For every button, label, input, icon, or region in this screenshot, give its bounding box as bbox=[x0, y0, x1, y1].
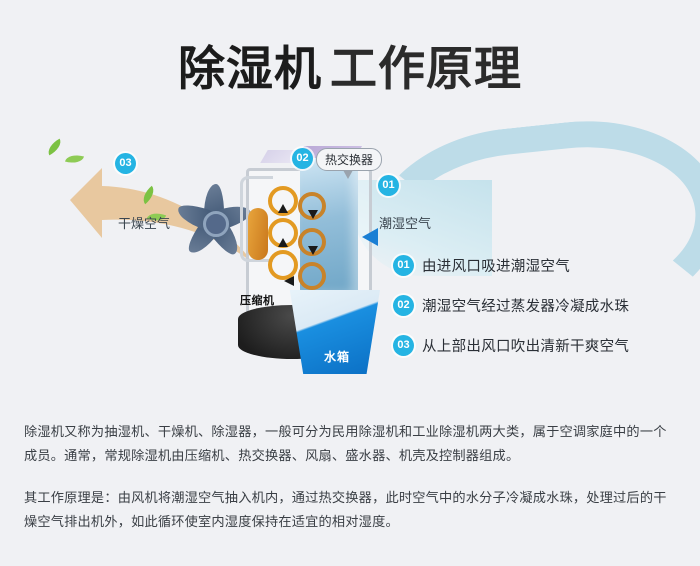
legend-text-01: 由进风口吸进潮湿空气 bbox=[422, 255, 570, 276]
page-title-part2: 工作原理 bbox=[330, 42, 522, 95]
flow-arrow-down-icon bbox=[308, 210, 318, 219]
legend-badge-03: 03 bbox=[393, 335, 414, 356]
flow-arrow-left-icon bbox=[284, 276, 294, 286]
legend-badge-02: 02 bbox=[393, 295, 414, 316]
heat-exchanger-callout: 热交换器 bbox=[316, 148, 382, 171]
body-copy: 除湿机又称为抽湿机、干燥机、除湿器，一般可分为民用除湿机和工业除湿机两大类，属于… bbox=[24, 420, 678, 552]
legend-text-03: 从上部出风口吹出清新干爽空气 bbox=[422, 335, 629, 356]
flow-arrow-up-icon bbox=[278, 204, 288, 213]
paragraph-2: 其工作原理是：由风机将潮湿空气抽入机内，通过热交换器，此时空气中的水分子冷凝成水… bbox=[24, 486, 678, 534]
compressor-label: 压缩机 bbox=[240, 292, 275, 308]
diagram-badge-03: 03 bbox=[115, 153, 136, 174]
diagram-badge-02: 02 bbox=[292, 148, 313, 169]
legend-badge-01: 01 bbox=[393, 255, 414, 276]
humid-air-label: 潮湿空气 bbox=[379, 213, 431, 232]
legend-item: 03 从上部出风口吹出清新干爽空气 bbox=[393, 335, 693, 356]
water-tank-label: 水箱 bbox=[324, 348, 350, 365]
legend-item: 01 由进风口吸进潮湿空气 bbox=[393, 255, 693, 276]
air-intake-arrow-icon bbox=[362, 228, 378, 246]
leaf-icon bbox=[45, 139, 65, 156]
dry-air-label: 干燥空气 bbox=[118, 213, 170, 232]
legend-text-02: 潮湿空气经过蒸发器冷凝成水珠 bbox=[422, 295, 629, 316]
coil-icon bbox=[298, 262, 326, 290]
legend-list: 01 由进风口吸进潮湿空气 02 潮湿空气经过蒸发器冷凝成水珠 03 从上部出风… bbox=[393, 255, 693, 375]
page-title-part1: 除湿机 bbox=[178, 42, 322, 95]
legend-item: 02 潮湿空气经过蒸发器冷凝成水珠 bbox=[393, 295, 693, 316]
dehumidifier-machine: 水箱 压缩机 bbox=[238, 140, 398, 380]
flow-arrow-up-icon bbox=[278, 238, 288, 247]
diagram-badge-01: 01 bbox=[378, 175, 399, 196]
paragraph-1: 除湿机又称为抽湿机、干燥机、除湿器，一般可分为民用除湿机和工业除湿机两大类，属于… bbox=[24, 420, 678, 468]
infographic-page: 除湿机工作原理 bbox=[0, 0, 700, 566]
compressor-cylinder bbox=[248, 208, 268, 260]
flow-arrow-down-icon bbox=[308, 246, 318, 255]
page-title: 除湿机工作原理 bbox=[0, 30, 700, 99]
